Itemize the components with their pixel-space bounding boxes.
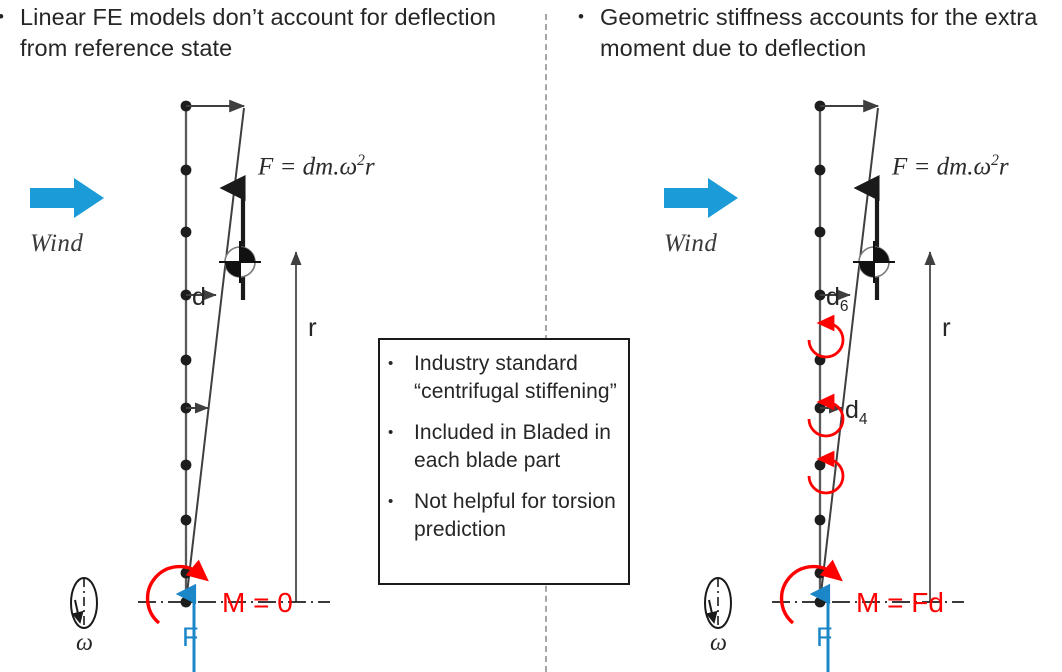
callout-item-text: Included in Bladed in each blade part <box>414 419 618 475</box>
d-base: d <box>826 283 840 311</box>
d-subscript: 4 <box>859 411 868 428</box>
right-moment-label: M = Fd <box>856 587 944 619</box>
left-radius-label: r <box>308 312 317 343</box>
left-force-formula: F = dm.ω2r <box>258 152 375 181</box>
left-force-label: F <box>182 622 199 653</box>
right-radius-label: r <box>942 312 951 343</box>
callout-item-text: Not helpful for torsion prediction <box>414 488 618 544</box>
formula-exponent: 2 <box>357 152 365 169</box>
rotation-symbol <box>71 578 97 628</box>
callout-item: • Included in Bladed in each blade part <box>388 419 618 475</box>
right-omega-label: ω <box>710 630 727 657</box>
root-moment-arrow <box>148 567 200 623</box>
left-omega-label: ω <box>76 630 93 657</box>
right-force-formula: F = dm.ω2r <box>892 152 1009 181</box>
callout-box: • Industry standard “centrifugal stiffen… <box>378 338 630 585</box>
bullet-icon: • <box>388 419 414 447</box>
left-deflection-label: d <box>192 283 206 312</box>
root-moment-arrow <box>782 567 834 623</box>
bullet-icon: • <box>388 488 414 516</box>
bullet-icon: • <box>388 350 414 378</box>
deflected-blade-curve <box>186 108 244 602</box>
d-base: d <box>845 396 859 424</box>
callout-item: • Industry standard “centrifugal stiffen… <box>388 350 618 406</box>
formula-exponent: 2 <box>991 152 999 169</box>
deflected-blade-curve <box>820 108 878 602</box>
formula-omega: ω <box>339 153 357 180</box>
d-subscript: 6 <box>840 298 849 315</box>
formula-omega: ω <box>973 153 991 180</box>
formula-rhs: r <box>365 153 375 180</box>
right-deflection-label-top: d6 <box>826 283 849 316</box>
formula-rhs: r <box>999 153 1009 180</box>
callout-item: • Not helpful for torsion prediction <box>388 488 618 544</box>
right-force-label: F <box>816 622 833 653</box>
callout-item-text: Industry standard “centrifugal stiffenin… <box>414 350 618 406</box>
formula-lhs: F = dm. <box>892 153 973 180</box>
left-moment-label: M = 0 <box>222 587 293 619</box>
rotation-symbol <box>705 578 731 628</box>
center-of-mass-icon <box>853 241 895 283</box>
formula-lhs: F = dm. <box>258 153 339 180</box>
center-of-mass-icon <box>219 241 261 283</box>
right-deflection-label-mid: d4 <box>845 396 868 429</box>
